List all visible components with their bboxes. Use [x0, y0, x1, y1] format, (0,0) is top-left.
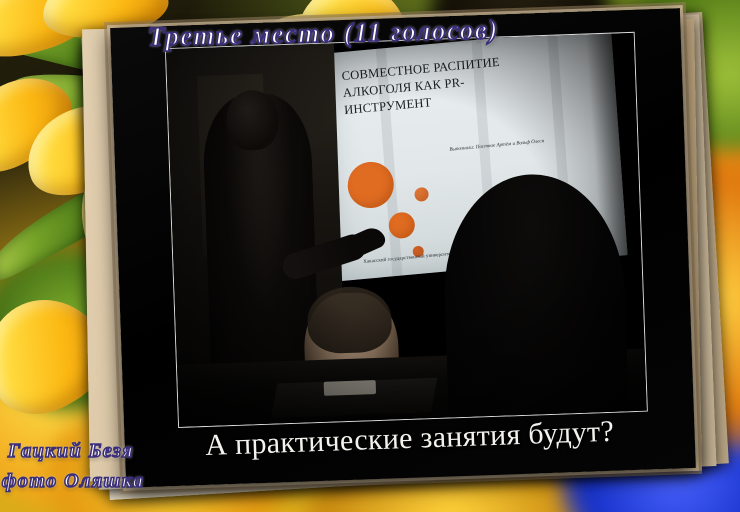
- photo-card: Совместное распитие алкоголя как PR- инс…: [110, 8, 696, 488]
- slide-circle-small: [414, 187, 429, 202]
- photograph: Совместное распитие алкоголя как PR- инс…: [166, 33, 647, 427]
- watermark-author: Гацкий Безя: [8, 440, 134, 463]
- watermark-photographer: фото Оляшка: [2, 470, 144, 493]
- screenshot-canvas: Совместное распитие алкоголя как PR- инс…: [0, 0, 740, 512]
- photo-frame: Совместное распитие алкоголя как PR- инс…: [165, 32, 648, 428]
- slide-authors: Выполнили: Постное Артём и Вольф Олеся: [449, 133, 599, 154]
- seated-person-hair: [306, 285, 392, 354]
- laptop-lid: [324, 380, 376, 396]
